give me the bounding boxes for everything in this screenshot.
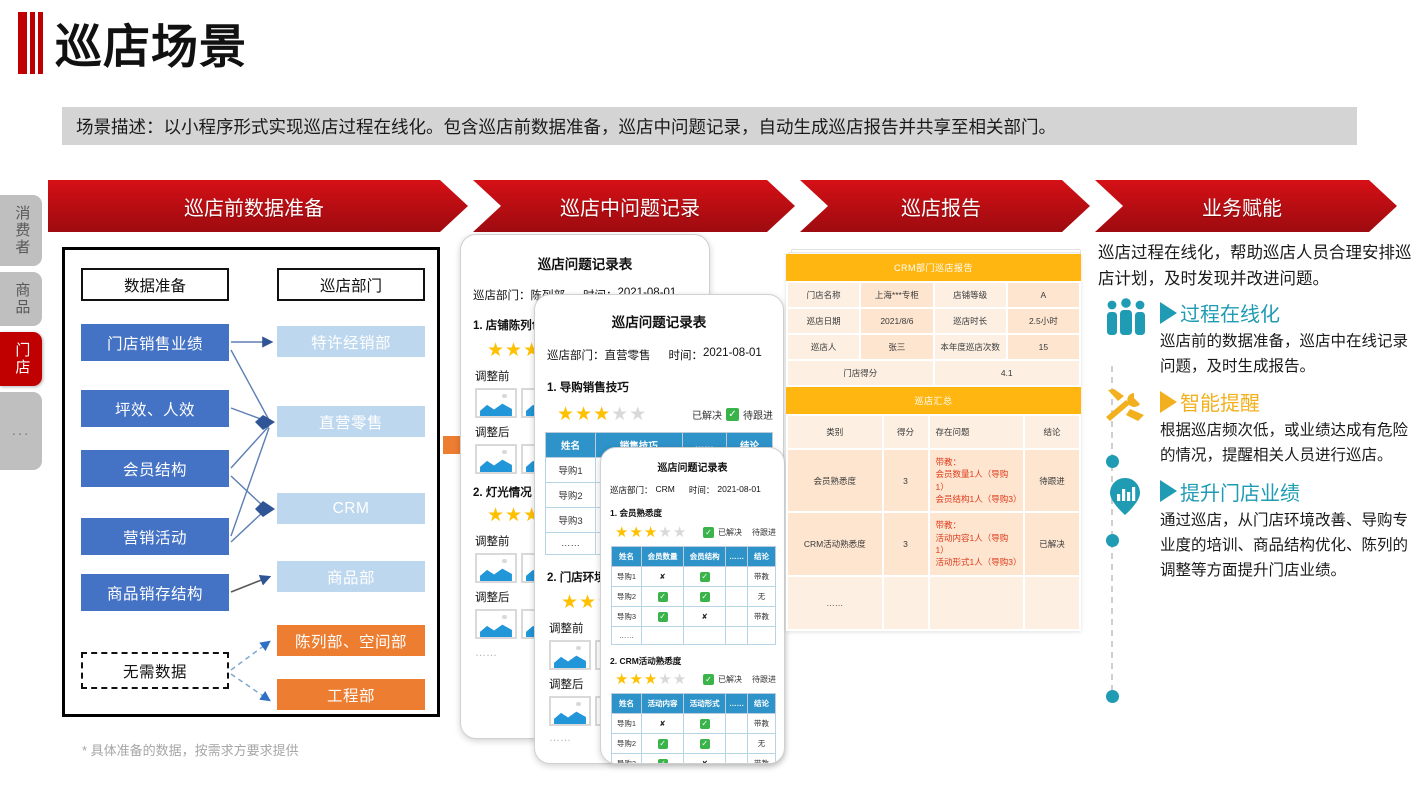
prep-right-header: 巡店部门 (277, 268, 425, 301)
check-icon: ✓ (658, 739, 668, 749)
section-heading: 2. CRM活动熟悉度 (601, 655, 784, 667)
empowerment-block-online-process: 过程在线化 巡店前的数据准备，巡店中在线记录问题，及时生成报告。 (1098, 298, 1413, 379)
cell-mark: ✘ (684, 754, 726, 765)
phase-label: 巡店前数据准备 (184, 192, 324, 221)
cell-conclusion: 带教 (748, 607, 776, 627)
sidebar-item-label: 商品 (13, 282, 30, 316)
block-heading: 智能提醒 (1180, 387, 1260, 416)
sidebar-item-label: ... (12, 423, 31, 440)
pending-label: 待跟进 (752, 527, 776, 538)
empowerment-block-smart-reminder: 智能提醒 根据巡店频次低，或业绩达成有危险的情况，提醒相关人员进行巡店。 (1098, 387, 1413, 468)
phase-arrow-row: 巡店前数据准备 巡店中问题记录 巡店报告 业务赋能 (48, 180, 1397, 232)
sidebar-item-more[interactable]: ... (0, 392, 42, 470)
cell-name: 导购2 (612, 734, 642, 754)
pending-label: 待跟进 (752, 674, 776, 685)
check-icon: ✓ (700, 592, 710, 602)
accent-bar-3 (38, 12, 43, 74)
col-activity-content: 活动内容 (642, 694, 684, 714)
prep-left-item-efficiency[interactable]: 坪效、人效 (81, 390, 229, 427)
cell-category: 会员熟悉度 (787, 449, 883, 512)
cell-name: 导购3 (546, 508, 596, 533)
col-activity-format: 活动形式 (684, 694, 726, 714)
col-more: …… (726, 547, 748, 567)
dept-value: 直营零售 (605, 347, 651, 363)
scene-description-banner: 场景描述：以小程序形式实现巡店过程在线化。包含巡店前数据准备，巡店中问题记录，自… (62, 107, 1357, 145)
check-icon: ✓ (658, 592, 668, 602)
category-side-tabs: 消费者 商品 门店 ... (0, 195, 42, 476)
dept-label: 巡店部门： (610, 484, 653, 496)
cell-conclusion: 已解决 (1024, 512, 1080, 575)
cell-label: 巡店人 (787, 334, 860, 360)
col-name: 姓名 (546, 433, 596, 458)
cell-mark: ✓ (642, 734, 684, 754)
block-body: 巡店前的数据准备，巡店中在线记录问题，及时生成报告。 (1160, 329, 1413, 379)
col-member-structure: 会员结构 (684, 547, 726, 567)
table-header-row: 类别 得分 存在问题 结论 (787, 415, 1080, 449)
timeline-dot (1106, 534, 1119, 547)
block-heading: 过程在线化 (1180, 298, 1280, 327)
phase-arrow-issue-record[interactable]: 巡店中问题记录 (473, 180, 795, 232)
cell-label: 巡店时长 (934, 308, 1007, 334)
resolved-label: 已解决 (718, 674, 742, 685)
check-icon: ✓ (700, 719, 710, 729)
cell-name: 导购3 (612, 754, 642, 765)
cell-conclusion: 带教 (748, 567, 776, 587)
table-row: 导购3 ✓ ✘ 带教 (612, 754, 776, 765)
timeline-dot (1106, 690, 1119, 703)
table-row: 导购1 ✘ ✓ 带教 (612, 567, 776, 587)
time-label: 时间： (669, 347, 704, 363)
prep-right-item-retail[interactable]: 直营零售 (277, 406, 425, 437)
phase-label: 巡店报告 (901, 192, 981, 221)
prep-left-item-inventory[interactable]: 商品销存结构 (81, 574, 229, 611)
cell-value: A (1007, 282, 1080, 308)
sidebar-item-product[interactable]: 商品 (0, 272, 42, 326)
check-icon: ✓ (700, 739, 710, 749)
score-label: 门店得分 (787, 360, 934, 386)
sidebar-item-label: 门店 (13, 342, 30, 376)
table-header-row: 姓名 活动内容 活动形式 …… 结论 (612, 694, 776, 714)
cell-score: 3 (883, 449, 929, 512)
col-conclusion: 结论 (1024, 415, 1080, 449)
cell-name: 导购2 (612, 587, 642, 607)
sidebar-item-store[interactable]: 门店 (0, 332, 42, 386)
status-toggle[interactable]: ✓ 已解决 待跟进 (703, 674, 776, 685)
rating-stars[interactable]: ★★★★★ (557, 405, 647, 424)
report-info-table: 门店名称 上海***专柜 店铺等级 A 巡店日期 2021/8/6 巡店时长 2… (786, 281, 1081, 387)
triangle-bullet-icon (1160, 391, 1177, 413)
phase-arrow-data-prep[interactable]: 巡店前数据准备 (48, 180, 468, 232)
report-summary-table: 类别 得分 存在问题 结论 会员熟悉度 3 带教： 会员数量1人（导购1） 会员… (786, 414, 1081, 631)
col-category: 类别 (787, 415, 883, 449)
image-placeholder-icon (475, 444, 517, 474)
table-row: 导购3 ✓ ✘ 带教 (612, 607, 776, 627)
prep-right-item-crm[interactable]: CRM (277, 493, 425, 524)
rating-row: ★★★★★ 已解决 ✓ 待跟进 (557, 405, 773, 424)
triangle-bullet-icon (1160, 302, 1177, 324)
cell-mark: ✘ (642, 714, 684, 734)
col-conclusion: 结论 (748, 547, 776, 567)
image-placeholder-icon (549, 696, 591, 726)
cell-value: 2.5小时 (1007, 308, 1080, 334)
block-body: 通过巡店，从门店环境改善、导购专业度的培训、商品结构优化、陈列的调整等方面提升门… (1160, 508, 1413, 583)
check-icon: ✓ (658, 759, 668, 765)
sidebar-item-label: 消费者 (13, 205, 30, 256)
cell-mark: ✘ (684, 607, 726, 627)
cell-mark: ✓ (684, 734, 726, 754)
cell-mark: ✘ (642, 567, 684, 587)
cell-value: 2021/8/6 (860, 308, 933, 334)
prep-right-item-merch[interactable]: 商品部 (277, 561, 425, 592)
cell-mark: ✓ (642, 607, 684, 627)
table-row: 门店得分 4.1 (787, 360, 1080, 386)
cell-conclusion: 无 (748, 734, 776, 754)
scene-description-text: 场景描述：以小程序形式实现巡店过程在线化。包含巡店前数据准备，巡店中问题记录，自… (76, 114, 1056, 139)
table-row: 门店名称 上海***专柜 店铺等级 A (787, 282, 1080, 308)
card-title: 巡店问题记录表 (461, 253, 709, 273)
people-icon (1104, 298, 1150, 338)
cell-name: 导购1 (612, 714, 642, 734)
cell-label: 门店名称 (787, 282, 860, 308)
rating-stars[interactable]: ★★★★★ (615, 672, 687, 687)
block-heading-row: 过程在线化 (1160, 298, 1413, 327)
phone-card-crm-dept[interactable]: 巡店问题记录表 巡店部门： CRM 时间： 2021-08-01 1. 会员熟悉… (600, 447, 785, 764)
col-name: 姓名 (612, 694, 642, 714)
check-icon[interactable]: ✓ (703, 527, 714, 538)
prep-left-item-no-data[interactable]: 无需数据 (81, 652, 229, 689)
cell-label: 店铺等级 (934, 282, 1007, 308)
store-visit-report-panel: CRM部门巡店报告 门店名称 上海***专柜 店铺等级 A 巡店日期 2021/… (786, 254, 1081, 664)
cell-issues: 带教： 活动内容1人（导购1） 活动形式1人（导购3） (929, 512, 1025, 575)
rating-row: ★★★★★ ✓ 已解决 待跟进 (615, 525, 776, 540)
image-placeholder-icon (475, 553, 517, 583)
dept-label: 巡店部门： (473, 287, 531, 303)
cell-conclusion: 无 (748, 587, 776, 607)
cell-value: 张三 (860, 334, 933, 360)
cell-value: 15 (1007, 334, 1080, 360)
prep-left-header: 数据准备 (81, 268, 229, 301)
cell-name: 导购1 (612, 567, 642, 587)
cell-label: 本年度巡店次数 (934, 334, 1007, 360)
empowerment-lead-text: 巡店过程在线化，帮助巡店人员合理安排巡店计划，及时发现并改进问题。 (1098, 240, 1413, 292)
triangle-bullet-icon (1160, 480, 1177, 502)
card-meta: 巡店部门： CRM 时间： 2021-08-01 (601, 484, 784, 496)
prep-left-item-member[interactable]: 会员结构 (81, 450, 229, 487)
cell-name: 导购2 (546, 483, 596, 508)
cell-conclusion: 带教 (748, 754, 776, 765)
rating-row: ★★★★★ ✓ 已解决 待跟进 (615, 672, 776, 687)
check-icon[interactable]: ✓ (726, 408, 739, 421)
phase-arrow-report[interactable]: 巡店报告 (800, 180, 1090, 232)
dept-label: 巡店部门： (547, 347, 605, 363)
cell-more-row: …… (787, 576, 883, 630)
time-value: 2021-08-01 (703, 347, 762, 363)
cell-mark: ✓ (684, 714, 726, 734)
cell-mark: ✓ (642, 754, 684, 765)
cell-category: CRM活动熟悉度 (787, 512, 883, 575)
cell-conclusion: 待跟进 (1024, 449, 1080, 512)
cell-mark: ✓ (642, 587, 684, 607)
table-header-row: 姓名 会员数量 会员结构 …… 结论 (612, 547, 776, 567)
time-label: 时间： (689, 484, 715, 496)
col-conclusion: 结论 (748, 694, 776, 714)
accent-bar-1 (18, 12, 27, 74)
check-icon: ✓ (700, 572, 710, 582)
cell-more-row: …… (546, 533, 596, 555)
resolved-label: 已解决 (718, 527, 742, 538)
cell-score: 3 (883, 512, 929, 575)
dept-value: CRM (656, 484, 675, 496)
cell-more-row: …… (612, 627, 642, 645)
card-title: 巡店问题记录表 (601, 459, 784, 474)
block-heading-row: 智能提醒 (1160, 387, 1413, 416)
cell-name: 导购1 (546, 458, 596, 483)
table-row: 巡店人 张三 本年度巡店次数 15 (787, 334, 1080, 360)
prep-right-item-display[interactable]: 陈列部、空间部 (277, 625, 425, 656)
prep-right-item-engineering[interactable]: 工程部 (277, 679, 425, 710)
sidebar-item-consumer[interactable]: 消费者 (0, 195, 42, 266)
block-heading-row: 提升门店业绩 (1160, 477, 1413, 506)
table-row: 导购2 ✓ ✓ 无 (612, 734, 776, 754)
timeline-dot (1106, 455, 1119, 468)
table-row: 导购1 ✘ ✓ 带教 (612, 714, 776, 734)
pending-label: 待跟进 (743, 407, 773, 422)
status-toggle[interactable]: 已解决 ✓ 待跟进 (692, 407, 773, 422)
page-title: 巡店场景 (55, 8, 247, 77)
table-row: 导购2 ✓ ✓ 无 (612, 587, 776, 607)
table-row: …… (612, 627, 776, 645)
col-issues: 存在问题 (929, 415, 1025, 449)
tools-icon (1104, 387, 1150, 427)
empowerment-block-improve-performance: 提升门店业绩 通过巡店，从门店环境改善、导购专业度的培训、商品结构优化、陈列的调… (1098, 477, 1413, 583)
prep-right-item-franchise[interactable]: 特许经销部 (277, 326, 425, 357)
status-toggle[interactable]: ✓ 已解决 待跟进 (703, 527, 776, 538)
cell-conclusion: 带教 (748, 714, 776, 734)
time-value: 2021-08-01 (717, 484, 760, 496)
cell-value: 上海***专柜 (860, 282, 933, 308)
image-placeholder-icon (549, 640, 591, 670)
prep-footnote: * 具体准备的数据，按需求方要求提供 (82, 740, 299, 759)
rating-stars[interactable]: ★★★★★ (615, 525, 687, 540)
card-meta: 巡店部门： 直营零售 时间： 2021-08-01 (535, 347, 783, 363)
chart-pin-icon (1104, 477, 1150, 517)
accent-bar-2 (30, 12, 35, 74)
prep-left-item-marketing[interactable]: 营销活动 (81, 518, 229, 555)
report-summary-band: 巡店汇总 (786, 387, 1081, 414)
table-row: 巡店日期 2021/8/6 巡店时长 2.5小时 (787, 308, 1080, 334)
table-row: …… (787, 576, 1080, 630)
block-body: 根据巡店频次低，或业绩达成有危险的情况，提醒相关人员进行巡店。 (1160, 418, 1413, 468)
phase-label: 业务赋能 (1202, 192, 1282, 221)
report-card[interactable]: CRM部门巡店报告 门店名称 上海***专柜 店铺等级 A 巡店日期 2021/… (786, 254, 1081, 631)
title-accent-bars (18, 12, 44, 74)
issue-table: 姓名 活动内容 活动形式 …… 结论 导购1 ✘ ✓ 带教 导购2 ✓ ✓ 无 … (611, 693, 776, 764)
report-title-band: CRM部门巡店报告 (786, 254, 1081, 281)
cell-issues: 带教： 会员数量1人（导购1） 会员结构1人（导购3） (929, 449, 1025, 512)
resolved-label: 已解决 (692, 407, 722, 422)
block-heading: 提升门店业绩 (1180, 477, 1300, 506)
phase-arrow-empowerment[interactable]: 业务赋能 (1095, 180, 1397, 232)
check-icon: ✓ (658, 612, 668, 622)
card-title: 巡店问题记录表 (535, 311, 783, 331)
prep-left-item-sales[interactable]: 门店销售业绩 (81, 324, 229, 361)
data-preparation-panel: 数据准备 巡店部门 门店销售业绩 坪效、人效 会员结构 营销活动 商品销存结构 … (62, 247, 440, 717)
image-placeholder-icon (475, 388, 517, 418)
cell-label: 巡店日期 (787, 308, 860, 334)
check-icon[interactable]: ✓ (703, 674, 714, 685)
col-name: 姓名 (612, 547, 642, 567)
cell-mark: ✓ (684, 567, 726, 587)
business-empowerment-panel: 巡店过程在线化，帮助巡店人员合理安排巡店计划，及时发现并改进问题。 过程在线化 … (1098, 240, 1413, 583)
score-value: 4.1 (934, 360, 1081, 386)
phase-label: 巡店中问题记录 (560, 192, 700, 221)
col-more: …… (726, 694, 748, 714)
col-score: 得分 (883, 415, 929, 449)
cell-name: 导购3 (612, 607, 642, 627)
image-placeholder-icon (475, 609, 517, 639)
section-heading: 1. 导购销售技巧 (535, 379, 783, 395)
cell-mark: ✓ (684, 587, 726, 607)
table-row: CRM活动熟悉度 3 带教： 活动内容1人（导购1） 活动形式1人（导购3） 已… (787, 512, 1080, 575)
col-member-count: 会员数量 (642, 547, 684, 567)
issue-table: 姓名 会员数量 会员结构 …… 结论 导购1 ✘ ✓ 带教 导购2 ✓ ✓ 无 … (611, 546, 776, 645)
table-row: 会员熟悉度 3 带教： 会员数量1人（导购1） 会员结构1人（导购3） 待跟进 (787, 449, 1080, 512)
section-heading: 1. 会员熟悉度 (601, 507, 784, 519)
